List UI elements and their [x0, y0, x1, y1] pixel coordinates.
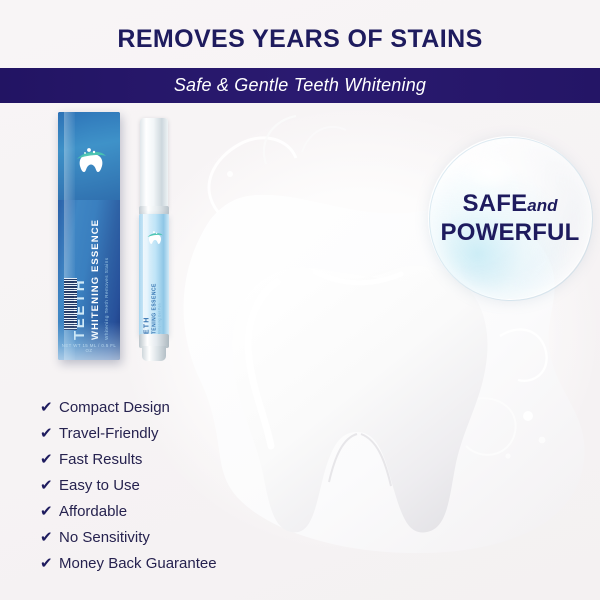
check-icon: ✔: [40, 478, 59, 493]
subtitle-text: Safe & Gentle Teeth Whitening: [0, 68, 600, 103]
check-icon: ✔: [40, 504, 59, 519]
product-box: TEETH WHITENING ESSENCE Whitening Teeth …: [58, 112, 120, 360]
pen-tagline: Teeth Whitening Gel Pen: [157, 303, 162, 336]
list-item-label: Travel-Friendly: [59, 425, 158, 442]
subtitle-band: Safe & Gentle Teeth Whitening: [0, 68, 600, 103]
badge-line-2: POWERFUL: [441, 219, 580, 246]
list-item-label: Easy to Use: [59, 477, 140, 494]
feature-list: ✔ Compact Design ✔ Travel-Friendly ✔ Fas…: [40, 394, 300, 576]
check-icon: ✔: [40, 426, 59, 441]
list-item: ✔ No Sensitivity: [40, 524, 300, 550]
page-title: REMOVES YEARS OF STAINS: [0, 24, 600, 54]
list-item-label: Compact Design: [59, 399, 170, 416]
list-item-label: Fast Results: [59, 451, 142, 468]
advertisement-poster: REMOVES YEARS OF STAINS Safe & Gentle Te…: [0, 0, 600, 600]
badge-line-1: SAFEand: [462, 191, 557, 219]
list-item: ✔ Compact Design: [40, 394, 300, 420]
box-footer-text: NET WT 15 ML / 0.5 FL OZ: [58, 343, 120, 353]
check-icon: ✔: [40, 556, 59, 571]
list-item-label: No Sensitivity: [59, 529, 150, 546]
list-item: ✔ Money Back Guarantee: [40, 550, 300, 576]
status-badge: SAFEand POWERFUL: [428, 136, 592, 300]
tooth-logo-icon: [146, 228, 164, 246]
check-icon: ✔: [40, 452, 59, 467]
check-icon: ✔: [40, 530, 59, 545]
pen-body: TEETH WHITENING ESSENCE Teeth Whitening …: [139, 214, 169, 336]
list-item: ✔ Fast Results: [40, 446, 300, 472]
list-item: ✔ Affordable: [40, 498, 300, 524]
badge-text: SAFEand POWERFUL: [429, 137, 591, 299]
check-icon: ✔: [40, 400, 59, 415]
pen-tip: [142, 346, 166, 361]
badge-safe-word: SAFE: [462, 190, 527, 217]
list-item: ✔ Travel-Friendly: [40, 420, 300, 446]
list-item-label: Affordable: [59, 503, 127, 520]
box-wave-graphic: [58, 322, 120, 360]
badge-and-word: and: [527, 196, 557, 215]
product-pen: TEETH WHITENING ESSENCE Teeth Whitening …: [137, 118, 171, 363]
list-item: ✔ Easy to Use: [40, 472, 300, 498]
pen-label-text: TEETH WHITENING ESSENCE Teeth Whitening …: [140, 262, 166, 337]
list-item-label: Money Back Guarantee: [59, 555, 217, 572]
pen-cap: [140, 118, 168, 210]
